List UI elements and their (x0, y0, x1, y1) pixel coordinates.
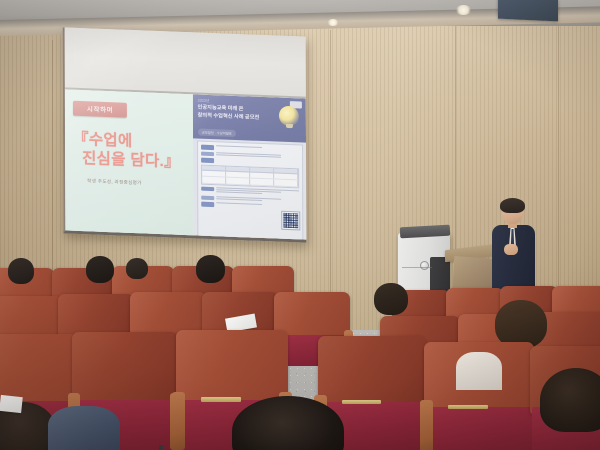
projected-slide: 시작하며 『수업에 진심을 담다.』 학생 주도성, 과정중심평가 2023년 … (65, 89, 307, 242)
attendee-head (374, 283, 408, 315)
slide-left-panel: 시작하며 『수업에 진심을 담다.』 학생 주도성, 과정중심평가 (65, 89, 193, 238)
seat-leg (159, 445, 163, 450)
headline-line-2: 진심을 담다.』 (73, 149, 187, 173)
room: 시작하며 『수업에 진심을 담다.』 학생 주도성, 과정중심평가 2023년 … (0, 0, 600, 450)
attendee-head (495, 300, 547, 348)
document-row-lines (216, 145, 299, 150)
seat-armrest (420, 400, 433, 450)
handout-paper (0, 395, 23, 413)
attendee-shoulders (456, 352, 502, 390)
seat-back (318, 336, 426, 409)
document-row-tag (201, 158, 214, 163)
wall-seam (558, 24, 559, 324)
document-row-tag (201, 202, 214, 207)
text-line (216, 192, 262, 195)
seat-cushion (426, 407, 532, 450)
av-cart-seam (402, 267, 432, 268)
competition-poster: 2023년 인공지능교육 미래 온 창의적 수업혁신 사례 공모전 공모일정 ·… (193, 94, 306, 142)
document-row-lines (216, 202, 299, 207)
attendee-head (196, 255, 225, 283)
seat-armrest (172, 392, 185, 450)
wall-seam (330, 30, 331, 330)
seat-back (72, 332, 178, 408)
document-row-tag (201, 186, 214, 191)
seat-number-plate (201, 397, 241, 402)
table-cell (274, 180, 298, 186)
av-cart-top-panel (400, 225, 451, 239)
attendee-shoulders (48, 406, 120, 450)
screen-blank-area (65, 27, 306, 98)
document-row-tag (201, 145, 214, 150)
document-row-tag (201, 195, 214, 200)
downlight-icon (455, 5, 472, 15)
text-line (216, 145, 262, 148)
poster-date-badge: 공모일정 · 수상작발표 (198, 128, 236, 136)
attendee-head (540, 368, 600, 432)
lecture-hall-photo: 시작하며 『수업에 진심을 담다.』 학생 주도성, 과정중심평가 2023년 … (0, 0, 600, 450)
seat-back (176, 330, 288, 407)
document-table (201, 164, 299, 188)
slide-subline: 학생 주도성, 과정중심평가 (73, 177, 187, 187)
text-line (216, 198, 262, 201)
av-cart-dial-icon (420, 261, 429, 270)
table-cell (226, 178, 250, 184)
seat-number-plate (342, 400, 381, 405)
table-cell (202, 170, 226, 176)
qr-code-icon (282, 212, 299, 230)
table-cell (250, 172, 274, 178)
glasses-icon (503, 209, 522, 213)
downlight-icon (327, 19, 339, 26)
seat-number-plate (448, 405, 488, 409)
table-cell (226, 171, 250, 177)
table-cell (202, 177, 226, 183)
table-cell (250, 179, 274, 185)
wall-navy-panel (498, 0, 558, 21)
attendee-head (86, 256, 114, 283)
headline-line-1: 『수업에 (73, 131, 133, 150)
lightbulb-icon (279, 106, 299, 127)
attendee-head (126, 258, 148, 279)
presenter-hands (504, 244, 518, 255)
text-line (216, 202, 262, 205)
slide-headline: 『수업에 진심을 담다.』 (73, 130, 187, 173)
announcement-document (197, 140, 304, 240)
attendee-head (8, 258, 34, 284)
document-row-tag (201, 151, 214, 156)
projection-screen: 시작하며 『수업에 진심을 담다.』 학생 주도성, 과정중심평가 2023년 … (63, 27, 307, 242)
table-cell (274, 173, 298, 179)
slide-right-panel: 2023년 인공지능교육 미래 온 창의적 수업혁신 사례 공모전 공모일정 ·… (193, 94, 307, 242)
slide-section-badge: 시작하며 (73, 100, 127, 117)
